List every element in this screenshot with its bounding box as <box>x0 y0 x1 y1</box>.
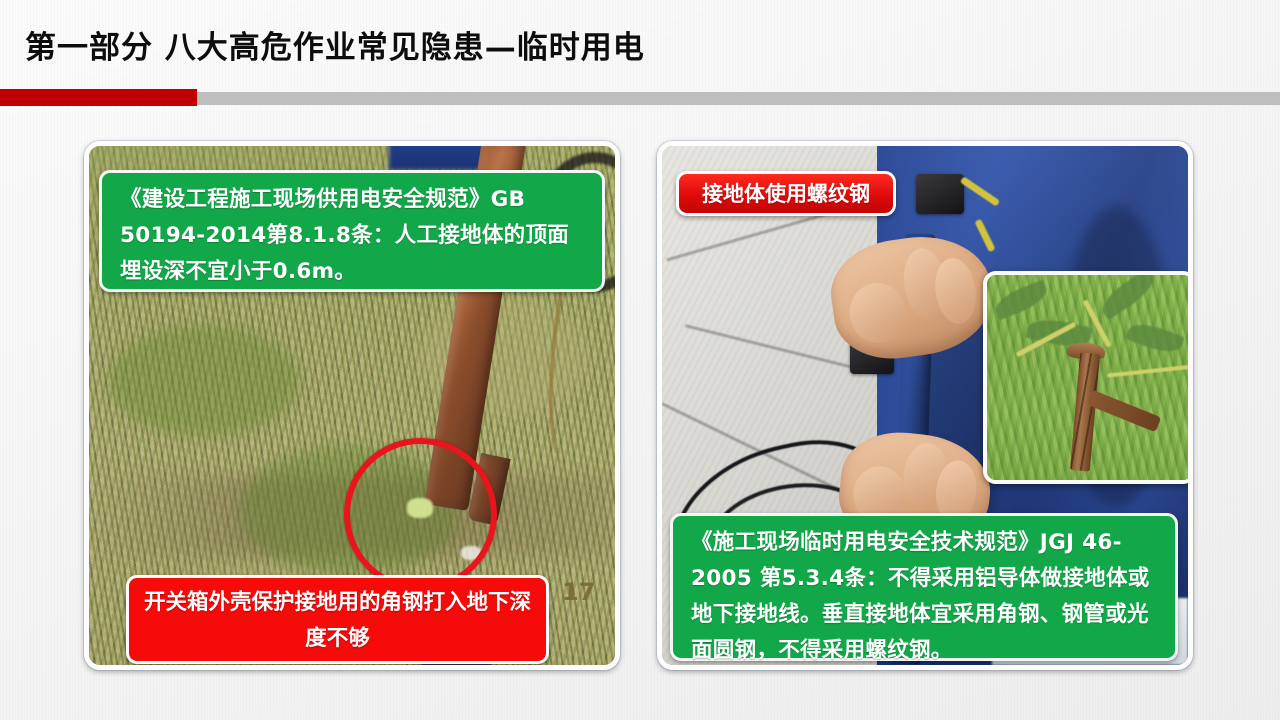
left-photo-panel[interactable]: 《建设工程施工现场供用电安全规范》GB 50194-2014第8.1.8条：人工… <box>84 141 620 670</box>
left-problem-callout: 开关箱外壳保护接地用的角钢打入地下深度不够 <box>126 575 549 664</box>
left-standard-callout: 《建设工程施工现场供用电安全规范》GB 50194-2014第8.1.8条：人工… <box>99 170 605 292</box>
left-photo-image: 《建设工程施工现场供用电安全规范》GB 50194-2014第8.1.8条：人工… <box>89 146 615 665</box>
red-circle-annotation <box>344 438 497 591</box>
cable-clamp <box>916 174 964 214</box>
page-number: 17 <box>562 578 595 606</box>
right-standard-callout: 《施工现场临时用电安全技术规范》JGJ 46-2005 第5.3.4条：不得采用… <box>670 513 1178 661</box>
slide-canvas: 第一部分 八大高危作业常见隐患—临时用电 《建设工程施工现场供用电安全规范》GB… <box>0 0 1280 720</box>
left-standard-text: 《建设工程施工现场供用电安全规范》GB 50194-2014第8.1.8条：人工… <box>102 173 602 299</box>
right-photo-image: 接地体使用螺纹钢 《施工现场临时用电安全技术规范》JGJ 46-2005 第5.… <box>662 146 1188 665</box>
right-standard-text: 《施工现场临时用电安全技术规范》JGJ 46-2005 第5.3.4条：不得采用… <box>673 516 1175 665</box>
right-problem-text: 接地体使用螺纹钢 <box>679 174 893 214</box>
left-problem-text: 开关箱外壳保护接地用的角钢打入地下深度不够 <box>129 578 546 664</box>
inset-photo-rebar-in-grass[interactable] <box>983 271 1188 484</box>
grass-patch <box>109 326 299 436</box>
header-rule-red <box>0 89 197 106</box>
thumb <box>846 279 910 346</box>
page-title: 第一部分 八大高危作业常见隐患—临时用电 <box>25 22 645 67</box>
right-photo-panel[interactable]: 接地体使用螺纹钢 《施工现场临时用电安全技术规范》JGJ 46-2005 第5.… <box>657 141 1193 670</box>
right-problem-label: 接地体使用螺纹钢 <box>676 171 896 216</box>
